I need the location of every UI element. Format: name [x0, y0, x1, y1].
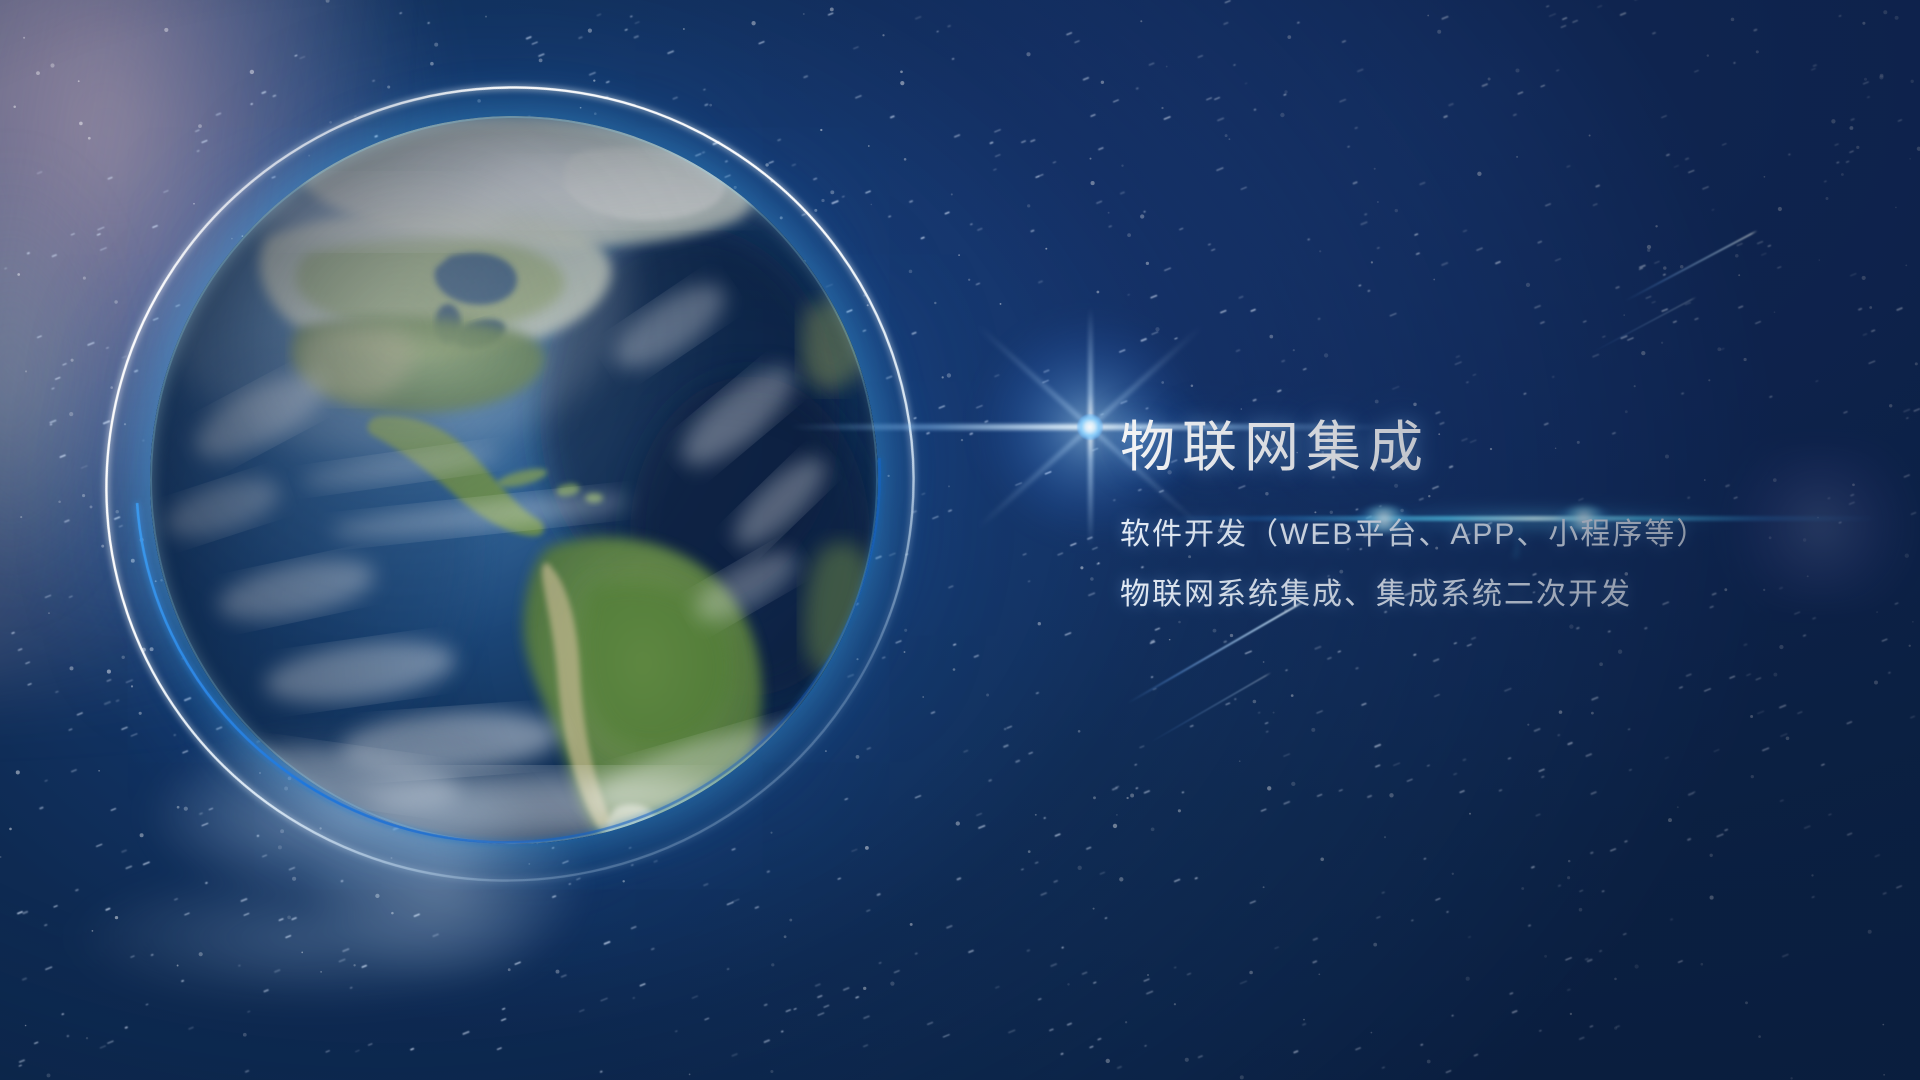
globe-surface: [150, 116, 878, 844]
banner-subtitle-2: 物联网系统集成、集成系统二次开发: [1120, 569, 1820, 613]
banner-copy: 物联网集成 软件开发（WEB平台、APP、小程序等） 物联网系统集成、集成系统二…: [1120, 418, 1820, 613]
earth-globe: [140, 106, 888, 854]
globe-sphere: [150, 116, 878, 844]
banner-title: 物联网集成: [1120, 418, 1820, 477]
hero-banner: 物联网集成 软件开发（WEB平台、APP、小程序等） 物联网系统集成、集成系统二…: [0, 0, 1920, 1080]
banner-subtitle-1: 软件开发（WEB平台、APP、小程序等）: [1120, 509, 1820, 553]
